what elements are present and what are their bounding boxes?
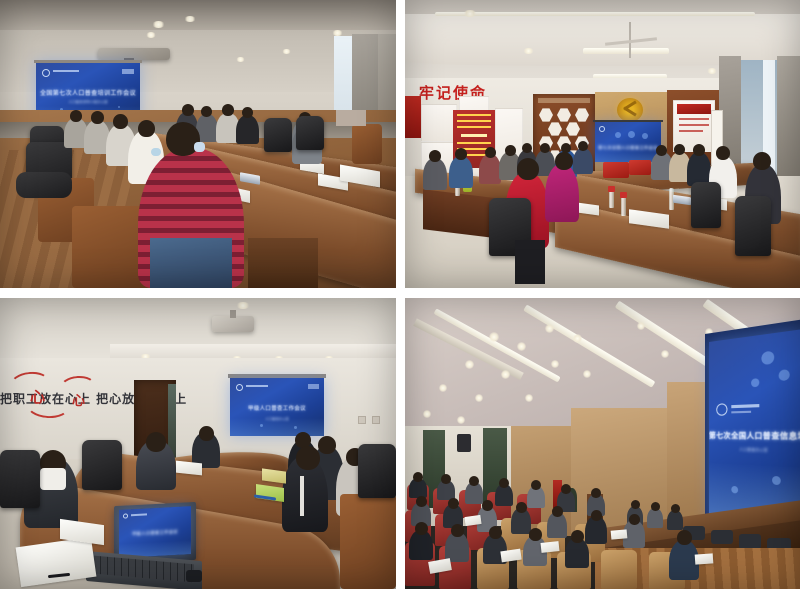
chair-tl-right-2 (296, 116, 324, 150)
person-tr-r3 (687, 152, 711, 186)
downlight-br-5 (439, 384, 447, 392)
red-poster-line-tr-2 (679, 124, 709, 126)
head-tr-r3 (693, 144, 705, 156)
downlight-br-14 (637, 322, 645, 330)
screen-dot-tl-3 (118, 106, 120, 108)
downlight-br-8 (457, 416, 465, 424)
tv-screen-tr: 第七次全国人口普查工作会议 (595, 122, 661, 162)
curtain-tr-2 (777, 56, 800, 186)
person-tr-l1 (423, 158, 447, 190)
downlight-br-9 (545, 324, 554, 333)
head-bl-right-2 (318, 436, 336, 454)
chair-tl-right-3 (352, 124, 382, 164)
head-br-stage-3 (671, 504, 680, 513)
honeycomb-title-tr (538, 98, 590, 103)
tv-logo-tr (599, 126, 605, 132)
photo-collage: 全国第七次人口普查培训工作会议 人口普查领导小组办公室 (0, 0, 800, 589)
person-tr-l2 (449, 156, 473, 188)
head-tr-l8 (578, 141, 588, 151)
bottle-cap-tr-2 (620, 192, 627, 198)
head-tr-l1 (429, 150, 441, 162)
head-br-m1 (416, 496, 427, 507)
head-tl-far-2 (201, 106, 212, 117)
downlight-tl-6 (236, 57, 245, 62)
led-subtitle-br: 人口普查办公室 (709, 446, 800, 455)
screen-logo-bl (236, 384, 243, 391)
head-tr-r4 (716, 146, 730, 160)
head-tr-r2 (674, 144, 685, 155)
led-dot-br-2 (779, 369, 790, 381)
ceiling-soffit-tl (0, 0, 396, 30)
head-tr-fg-pink (555, 152, 573, 170)
legs-tr-fg (515, 240, 545, 284)
notebook-br-5 (611, 529, 628, 539)
screen-wave-bl (230, 418, 324, 436)
red-board-line-tr-3 (457, 126, 491, 128)
head-br-m4 (516, 502, 527, 513)
head-br-b5 (531, 480, 541, 490)
head-tl-far-4 (242, 107, 253, 118)
head-br-f5 (571, 530, 584, 543)
chair-bl-right-wood (340, 494, 396, 589)
led-dot-br-1 (761, 351, 774, 365)
chair-tr-r2 (735, 196, 771, 256)
red-board-line-tr-2 (457, 120, 491, 122)
stage-chair-br-2 (711, 530, 733, 544)
person-tr-l8 (573, 148, 593, 174)
head-tl-near-1 (70, 110, 82, 122)
head-bl-left-2 (146, 432, 166, 452)
head-br-f1 (415, 522, 428, 535)
led-logo-text-br-1 (731, 404, 759, 408)
redbox-tr-1 (603, 162, 629, 178)
chair-cushion-tl (336, 110, 366, 126)
head-tr-l3 (485, 147, 496, 158)
head-br-b2 (441, 474, 451, 484)
red-poster-line-tr-1 (679, 118, 709, 120)
downlight-tl-1 (152, 21, 165, 28)
downlight-br-6 (475, 394, 483, 402)
head-br-b1 (413, 472, 423, 482)
screen-title-tl: 全国第七次人口普查培训工作会议 (36, 88, 140, 97)
wall-decal-heart-2-bl: 心 (72, 390, 85, 409)
info-panel-tr-1 (421, 104, 457, 142)
screen-logo-text-tl (53, 70, 79, 72)
speaker-br-1 (457, 434, 471, 452)
downlight-tr-3 (707, 68, 717, 74)
head-br-stage-1 (631, 500, 640, 509)
head-tr-l6 (540, 143, 550, 153)
downlight-tl-3 (146, 32, 156, 38)
photo-bottom-right: 第七次全国人口普查信息填报培训会 人口普查办公室 (405, 298, 800, 589)
downlight-br-10 (573, 334, 582, 343)
head-br-f2 (451, 524, 464, 537)
wall-switch-bl-2[interactable] (372, 416, 380, 424)
head-br-stage-2 (651, 502, 660, 511)
wall-switch-bl-1[interactable] (358, 416, 366, 424)
head-tr-l4 (505, 145, 516, 156)
projector-mount-bl (230, 310, 236, 318)
led-logo-text-br-2 (731, 411, 751, 414)
head-bl-right-3 (296, 446, 320, 470)
head-br-f3 (489, 526, 502, 539)
head-tl-near-2 (91, 111, 104, 124)
downlight-br-15 (661, 350, 669, 358)
mask-tl-near-4 (151, 148, 161, 156)
downlight-br-2 (517, 342, 526, 351)
head-br-m6 (591, 510, 602, 521)
photo-top-left: 全国第七次人口普查培训工作会议 人口普查领导小组办公室 (0, 0, 396, 288)
wall-decal-heart-1-bl: 心 (30, 386, 45, 407)
shirt-bl-left-1 (40, 468, 66, 490)
stripe-bl-right-3 (300, 476, 304, 516)
head-br-f6 (677, 530, 692, 545)
head-br-m5 (552, 506, 563, 517)
tv-dot-tr-3 (642, 133, 648, 139)
screen-dot-bl-1 (260, 424, 263, 427)
person-br-stage-2 (647, 508, 663, 528)
tv-frame-tr (593, 120, 663, 122)
head-bl-left-3 (199, 426, 214, 441)
head-tr-r5 (753, 152, 771, 170)
downlight-tr-2 (523, 48, 534, 54)
screen-logo-tl (42, 69, 50, 77)
person-tl-far-4 (236, 115, 259, 144)
head-br-b6 (561, 484, 571, 494)
red-poster-line-tr-3 (679, 130, 703, 132)
mouse-bl[interactable] (186, 570, 202, 582)
screen-title-bl: 甲级人口普查工作会议 (230, 404, 324, 412)
downlight-br-13 (525, 394, 533, 402)
downlight-br-4 (501, 370, 510, 379)
downlight-br-3 (465, 360, 474, 369)
downlight-br-12 (583, 370, 591, 378)
head-br-m2 (448, 498, 459, 509)
chair-bl-left-2 (82, 440, 122, 490)
jeans-tl-foreground (150, 238, 232, 288)
led-dot-br-3 (751, 378, 759, 387)
head-br-b7 (591, 488, 601, 498)
stage-chair-br-3 (739, 534, 761, 549)
laptop-logo-text-bl (131, 513, 147, 516)
red-board-line-tr-4 (461, 134, 487, 137)
head-br-m7 (629, 514, 640, 525)
head-br-b3 (469, 476, 479, 486)
seat-br-r3-6 (601, 550, 637, 589)
projection-screen-bl: 甲级人口普查工作会议 人口普查办公室 (230, 378, 324, 436)
red-poster-header-tr (677, 104, 711, 114)
person-br-stage-3 (667, 510, 683, 530)
screen-subtitle-tl: 人口普查领导小组办公室 (36, 100, 140, 105)
head-tr-fg-red (517, 158, 539, 180)
head-tl-near-3 (113, 114, 128, 129)
head-tr-l5 (522, 143, 532, 153)
chair-tl-right-1 (264, 118, 292, 152)
downlight-tr-1 (463, 10, 477, 17)
tv-dot-tr-1 (615, 132, 621, 138)
red-board-line-tr-1 (457, 114, 491, 116)
red-board-line-tr-5 (457, 142, 491, 144)
downlight-bl-1 (236, 302, 250, 309)
downlight-br-11 (551, 360, 559, 368)
screen-dot-bl-2 (294, 426, 297, 429)
chair-bl-right-1 (358, 444, 396, 498)
head-br-f4 (529, 528, 542, 541)
downlight-br-7 (423, 410, 431, 418)
photo-top-right: 牢记使命 (405, 0, 800, 288)
tv-dot-tr-2 (628, 131, 635, 138)
head-tl-far-1 (182, 104, 194, 116)
bottle-cap-tr-1 (608, 186, 615, 192)
downlight-tl-2 (184, 16, 196, 22)
head-br-b4 (499, 478, 509, 488)
redbox-tr-2 (629, 160, 651, 175)
screen-badge-bl (308, 384, 319, 389)
head-tr-r1 (656, 145, 667, 156)
striplight-tr-2 (583, 48, 669, 54)
led-logo-br (716, 403, 727, 416)
screen-badge-tl (122, 69, 134, 74)
chair-tr-r1 (691, 182, 721, 228)
laptop-screen-bl: 甲级人口普查工作会议 (119, 506, 191, 558)
head-tr-l2 (455, 148, 467, 160)
laptop-logo-bl (123, 513, 128, 518)
striplight-tr-1 (435, 12, 755, 16)
person-tr-fg-pink (545, 164, 579, 222)
laptop-title-bl: 甲级人口普查工作会议 (119, 528, 191, 538)
notebook-br-6 (695, 553, 714, 564)
projector-bl (212, 316, 254, 332)
person-tr-l3 (479, 154, 501, 184)
head-tl-near-4 (138, 120, 155, 137)
photo-bottom-left: 把职工放在心上 把心放在职工上 心 心 甲级人口普查工作会议 人口普查办公室 (0, 298, 396, 589)
projector-tl (98, 48, 170, 60)
red-panel-tr-1 (405, 96, 421, 138)
downlight-br-1 (489, 332, 499, 342)
screen-logo-text-bl (246, 385, 268, 387)
downlight-tl-5 (282, 49, 291, 54)
head-br-m3 (482, 500, 493, 511)
chair-back-tl (16, 172, 72, 198)
led-title-br: 第七次全国人口普查信息填报培训会 (709, 430, 800, 443)
head-tl-far-3 (222, 104, 234, 116)
notebook-br-3 (541, 541, 560, 553)
table-leg-tl (248, 238, 318, 288)
screen-frame-tl (34, 60, 142, 63)
chair-bl-left-1 (0, 450, 40, 508)
mask-tl-foreground (194, 142, 205, 152)
